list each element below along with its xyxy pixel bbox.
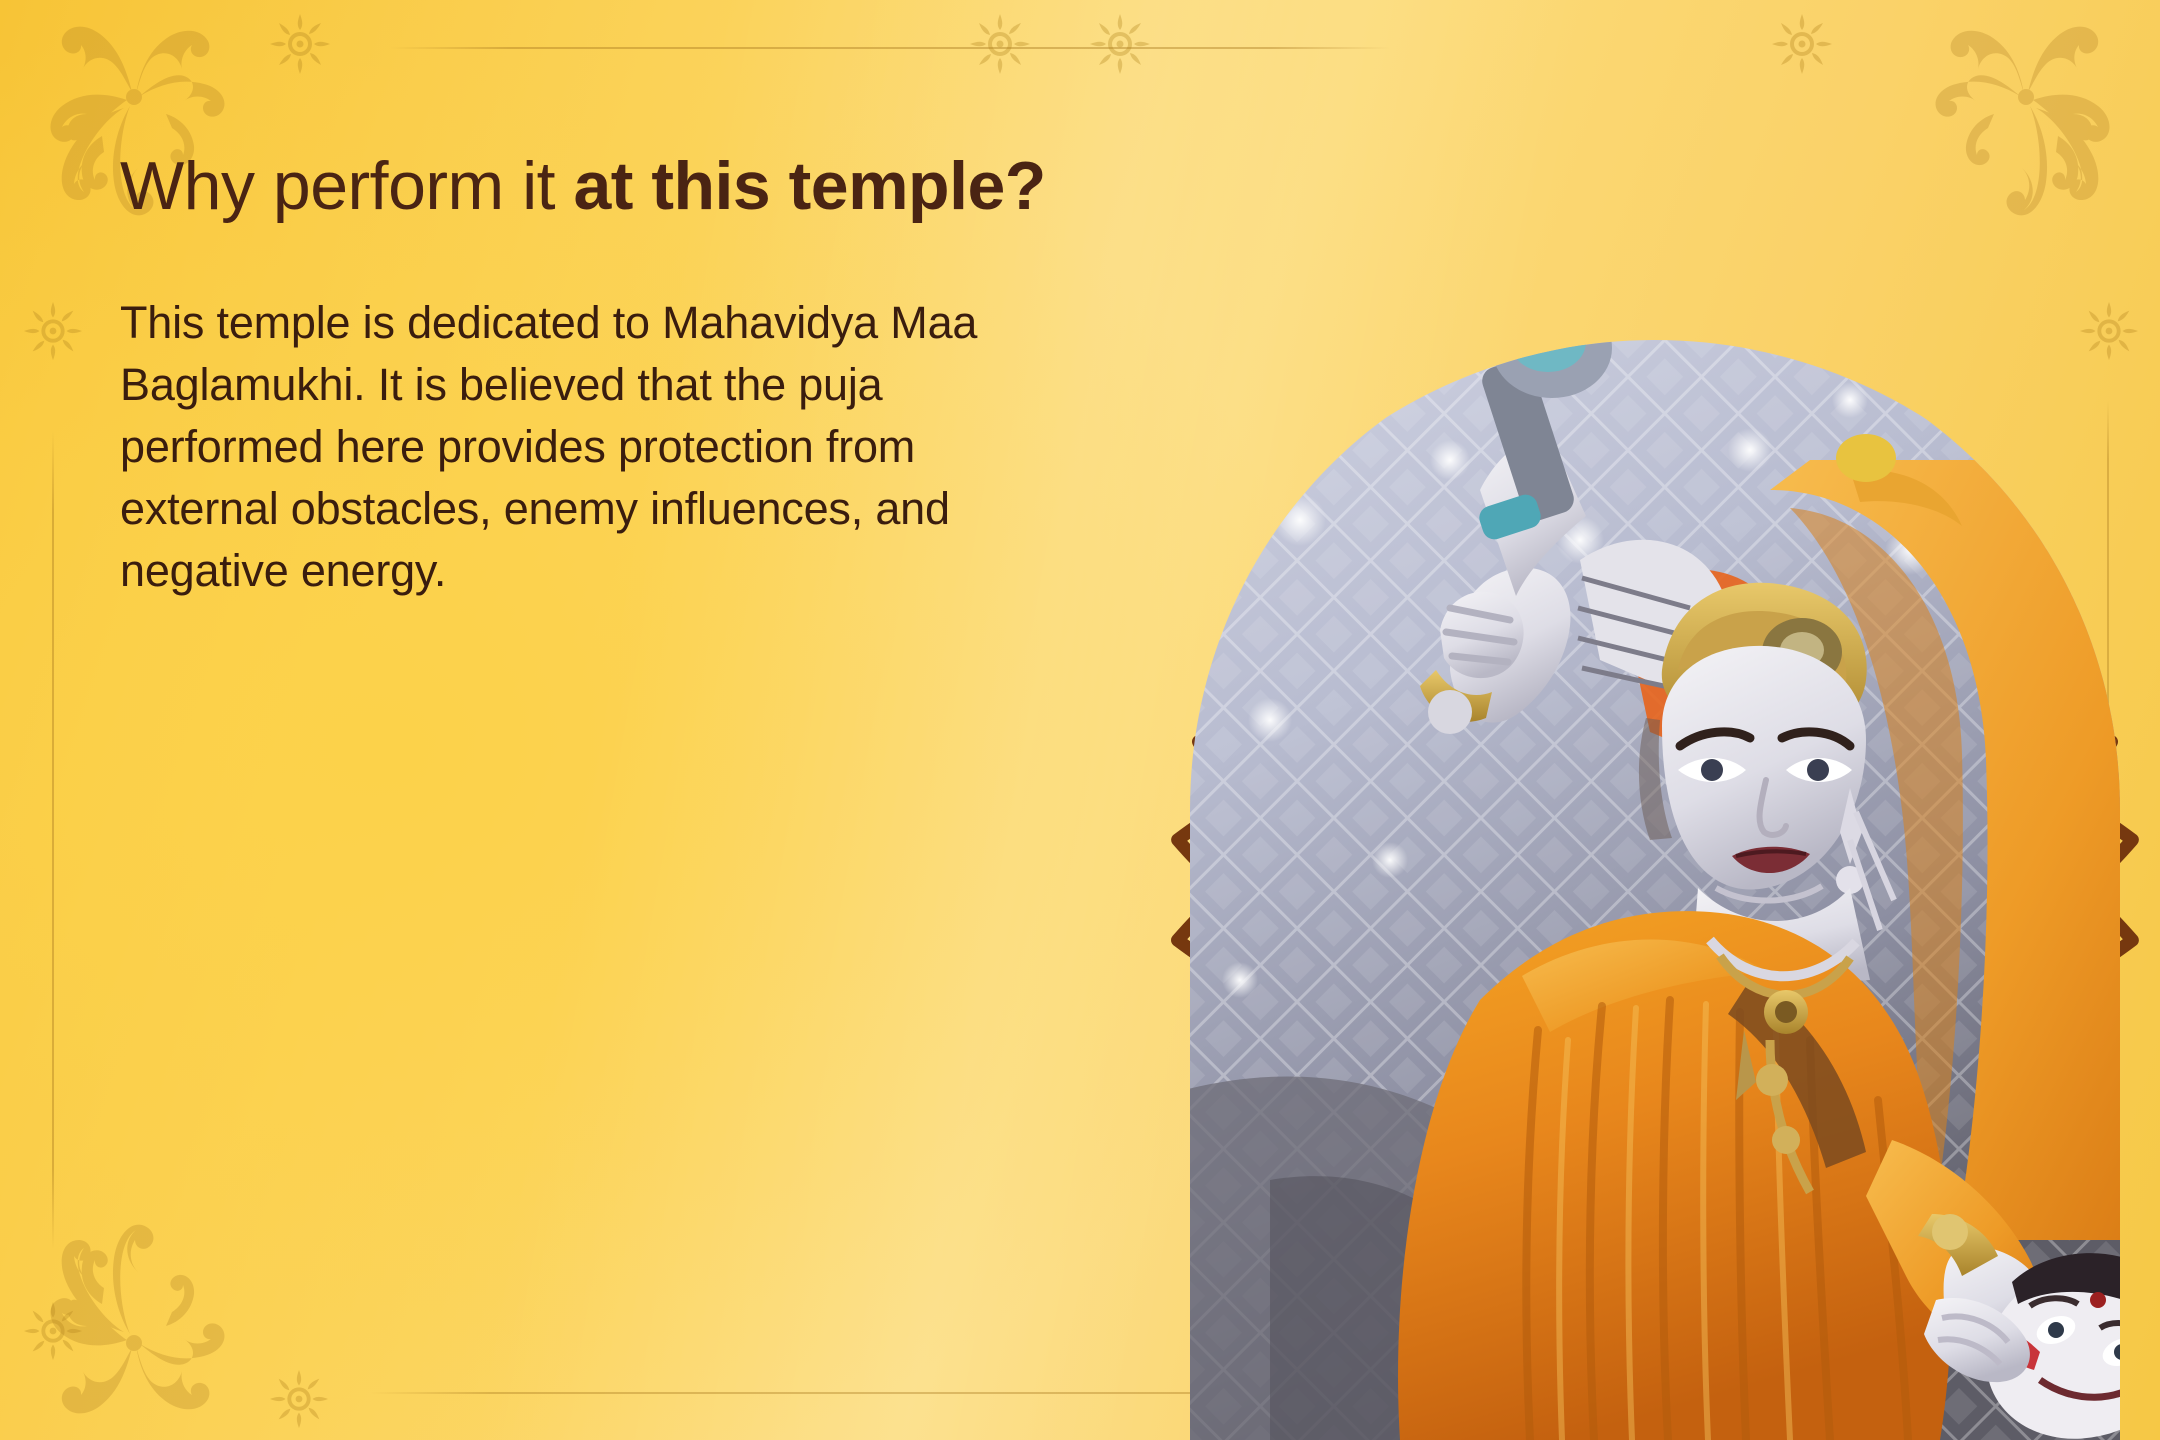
sun-flower-motif-top-4 (1770, 12, 1834, 76)
baglamukhi-deity-photo (1150, 340, 2160, 1440)
left-divider-rule (52, 430, 54, 1250)
sun-flower-motif-left (22, 300, 84, 362)
headline-light: Why perform it (120, 148, 573, 224)
top-divider-rule (390, 47, 1390, 49)
sun-flower-motif-bottom-left (22, 1300, 84, 1362)
headline-bold: at this temple? (573, 148, 1045, 224)
sun-flower-motif-bottom-center (268, 1368, 330, 1430)
deity-artwork (880, 250, 2160, 1440)
page-title: Why perform it at this temple? (120, 150, 1080, 222)
promo-banner: Why perform it at this temple? This temp… (0, 0, 2160, 1440)
deity-idol-illustration (1150, 340, 2160, 1440)
sun-flower-motif-top-1 (268, 12, 332, 76)
sun-flower-motif-top-3 (1088, 12, 1152, 76)
sun-flower-motif-top-2 (968, 12, 1032, 76)
floral-filigree-ornament-top-right (1896, 0, 2146, 226)
